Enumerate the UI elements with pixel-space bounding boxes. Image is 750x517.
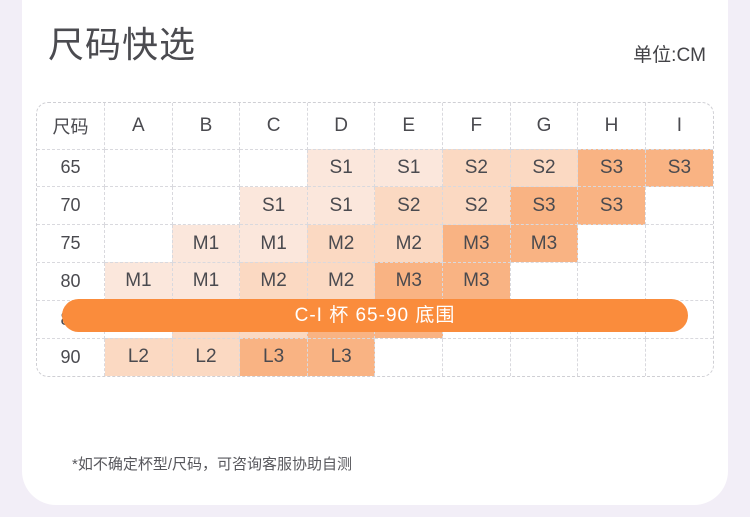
size-cell[interactable]: M3 <box>443 262 511 300</box>
column-header-d: D <box>307 103 375 149</box>
size-cell[interactable] <box>375 338 443 376</box>
row-header-90: 90 <box>37 338 105 376</box>
size-cell[interactable] <box>105 187 173 225</box>
size-cell[interactable]: S1 <box>375 149 443 187</box>
size-cell[interactable]: L2 <box>172 338 240 376</box>
table-row: 80M1M1M2M2M3M3 <box>37 262 713 300</box>
size-chart-page: 尺码快选 单位:CM 尺码ABCDEFGHI 65S1S1S2S2S3S370S… <box>0 0 750 517</box>
size-cell[interactable]: S2 <box>443 187 511 225</box>
footnote-text: *如不确定杯型/尺码，可咨询客服协助自测 <box>72 455 352 475</box>
table-row: 70S1S1S2S2S3S3 <box>37 187 713 225</box>
size-cell[interactable]: S3 <box>578 149 646 187</box>
size-cell[interactable]: M2 <box>307 262 375 300</box>
row-header-65: 65 <box>37 149 105 187</box>
table-row: 75M1M1M2M2M3M3 <box>37 225 713 263</box>
size-cell[interactable]: S1 <box>307 187 375 225</box>
header: 尺码快选 单位:CM <box>22 0 728 96</box>
table-header-row: 尺码ABCDEFGHI <box>37 103 713 149</box>
size-cell[interactable] <box>172 187 240 225</box>
size-cell[interactable] <box>578 262 646 300</box>
size-cell[interactable] <box>645 338 713 376</box>
column-header-e: E <box>375 103 443 149</box>
size-cell[interactable] <box>510 338 578 376</box>
size-cell[interactable]: M3 <box>375 262 443 300</box>
size-cell[interactable] <box>105 225 173 263</box>
size-cell[interactable]: S2 <box>510 149 578 187</box>
size-cell[interactable]: L2 <box>105 338 173 376</box>
size-range-banner: C-I 杯 65-90 底围 <box>62 299 688 332</box>
row-header-70: 70 <box>37 187 105 225</box>
table-header: 尺码ABCDEFGHI <box>37 103 713 149</box>
size-cell[interactable]: S3 <box>510 187 578 225</box>
content-card: 尺码快选 单位:CM 尺码ABCDEFGHI 65S1S1S2S2S3S370S… <box>22 0 728 505</box>
size-cell[interactable]: M3 <box>443 225 511 263</box>
size-cell[interactable]: L3 <box>240 338 308 376</box>
size-cell[interactable]: M2 <box>307 225 375 263</box>
column-header-c: C <box>240 103 308 149</box>
table-row: 90L2L2L3L3 <box>37 338 713 376</box>
column-header-g: G <box>510 103 578 149</box>
column-header-size: 尺码 <box>37 103 105 149</box>
size-cell[interactable]: M1 <box>172 262 240 300</box>
size-cell[interactable]: S2 <box>375 187 443 225</box>
size-cell[interactable] <box>578 225 646 263</box>
size-cell[interactable]: L3 <box>307 338 375 376</box>
row-header-80: 80 <box>37 262 105 300</box>
page-title: 尺码快选 <box>48 23 196 67</box>
size-table-container: 尺码ABCDEFGHI 65S1S1S2S2S3S370S1S1S2S2S3S3… <box>36 102 714 377</box>
size-cell[interactable]: M1 <box>105 262 173 300</box>
column-header-f: F <box>443 103 511 149</box>
size-cell[interactable] <box>510 262 578 300</box>
size-cell[interactable] <box>578 338 646 376</box>
size-cell[interactable]: M1 <box>172 225 240 263</box>
size-cell[interactable] <box>645 225 713 263</box>
unit-label: 单位:CM <box>633 44 706 68</box>
size-cell[interactable]: S3 <box>578 187 646 225</box>
size-cell[interactable]: M2 <box>375 225 443 263</box>
size-cell[interactable]: M2 <box>240 262 308 300</box>
size-table: 尺码ABCDEFGHI 65S1S1S2S2S3S370S1S1S2S2S3S3… <box>37 103 713 376</box>
size-cell[interactable] <box>443 338 511 376</box>
table-row: 65S1S1S2S2S3S3 <box>37 149 713 187</box>
size-cell[interactable]: S3 <box>645 149 713 187</box>
size-cell[interactable]: M3 <box>510 225 578 263</box>
row-header-75: 75 <box>37 225 105 263</box>
column-header-i: I <box>645 103 713 149</box>
table-body: 65S1S1S2S2S3S370S1S1S2S2S3S375M1M1M2M2M3… <box>37 149 713 376</box>
size-cell[interactable]: S1 <box>240 187 308 225</box>
column-header-b: B <box>172 103 240 149</box>
column-header-h: H <box>578 103 646 149</box>
size-cell[interactable] <box>240 149 308 187</box>
size-cell[interactable]: S2 <box>443 149 511 187</box>
size-cell[interactable] <box>645 187 713 225</box>
size-cell[interactable]: S1 <box>307 149 375 187</box>
column-header-a: A <box>105 103 173 149</box>
size-cell[interactable] <box>172 149 240 187</box>
size-cell[interactable]: M1 <box>240 225 308 263</box>
size-cell[interactable] <box>105 149 173 187</box>
size-cell[interactable] <box>645 262 713 300</box>
